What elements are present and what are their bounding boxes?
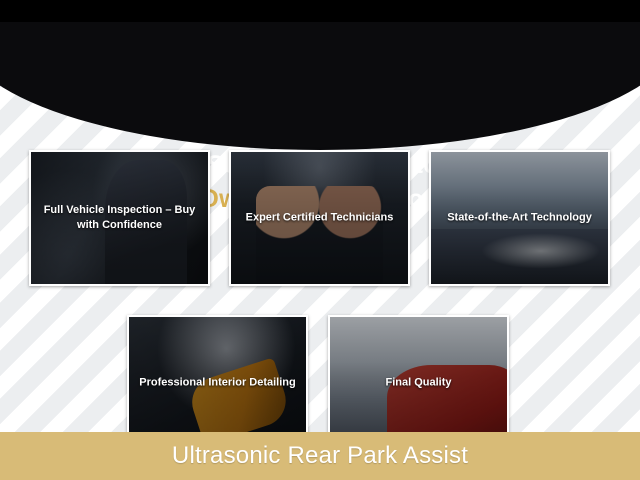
- card-professional-interior-detailing[interactable]: Professional Interior Detailing: [127, 315, 308, 451]
- card-label: State-of-the-Art Technology: [437, 211, 602, 226]
- card-expert-certified-technicians[interactable]: Expert Certified Technicians: [229, 150, 410, 286]
- card-row-bottom: Professional Interior Detailing Final Qu…: [127, 315, 513, 451]
- card-full-vehicle-inspection[interactable]: Full Vehicle Inspection – Buy with Confi…: [29, 150, 210, 286]
- card-final-quality[interactable]: Final Quality: [328, 315, 509, 451]
- promo-graphic: See what goes into every Pre-Owned Recon…: [0, 0, 640, 480]
- footer-feature-text: Ultrasonic Rear Park Assist: [172, 442, 468, 470]
- card-label: Professional Interior Detailing: [135, 376, 300, 391]
- footer-bar: Ultrasonic Rear Park Assist: [0, 432, 640, 480]
- card-state-of-the-art-technology[interactable]: State-of-the-Art Technology: [429, 150, 610, 286]
- card-label: Final Quality: [336, 376, 501, 391]
- letterbox-top: [0, 0, 640, 22]
- card-row-top: Full Vehicle Inspection – Buy with Confi…: [29, 150, 611, 286]
- card-label: Expert Certified Technicians: [237, 211, 402, 226]
- card-label: Full Vehicle Inspection – Buy with Confi…: [37, 203, 202, 233]
